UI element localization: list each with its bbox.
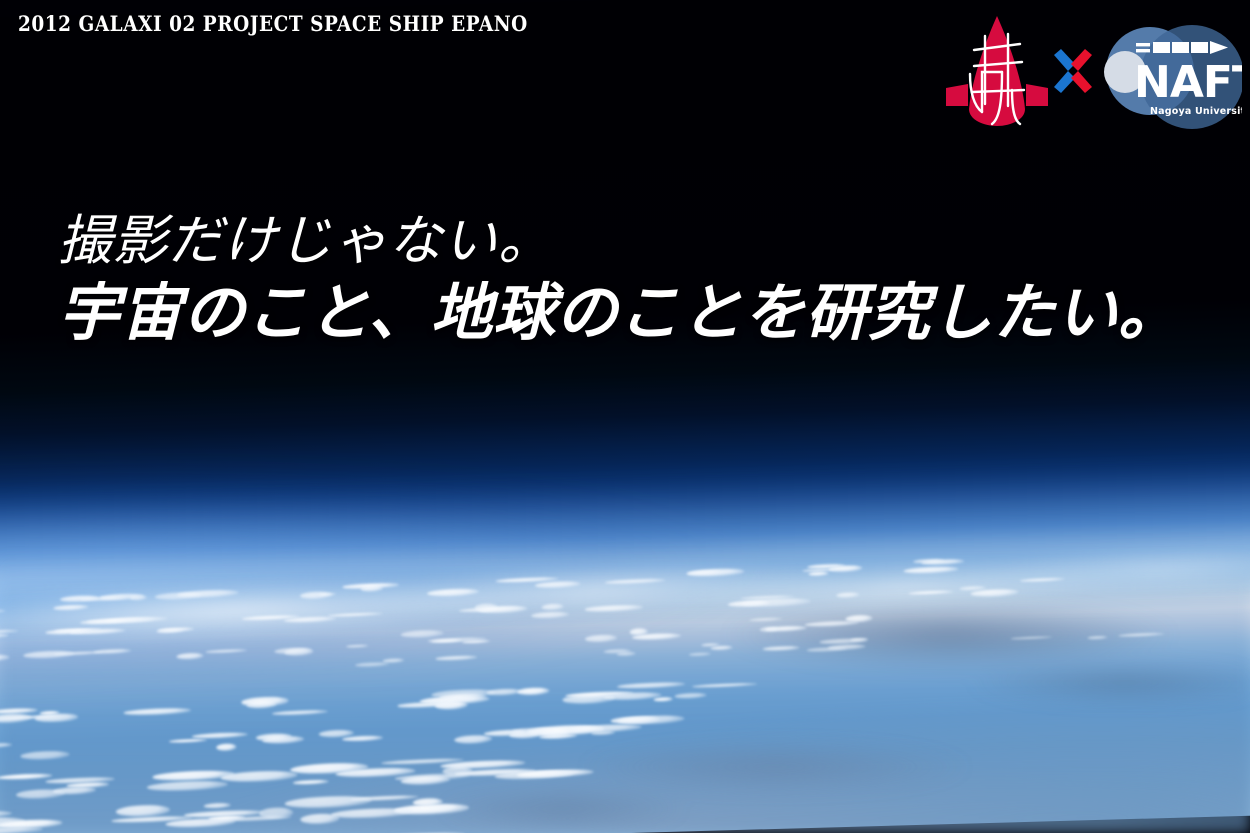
naft-wordmark: NAFT — [1134, 57, 1242, 108]
logo-lockup: NAFT Nagoya University — [942, 14, 1242, 134]
naft-logo: NAFT Nagoya University — [1092, 15, 1242, 133]
headline-line-2: 宇宙のこと、地球のことを研究したい。 — [58, 280, 1181, 347]
naft-subtitle: Nagoya University — [1150, 106, 1242, 117]
cross-multiply-icon — [1050, 48, 1096, 94]
poster: 2012 GALAXI 02 PROJECT SPACE SHIP EPANO — [0, 0, 1250, 833]
page-title: 2012 GALAXI 02 PROJECT SPACE SHIP EPANO — [18, 13, 528, 34]
headline-line-1: 撮影だけじゃない。 — [58, 212, 1181, 270]
galaxi-rocket-logo-icon — [944, 14, 1050, 134]
headline: 撮影だけじゃない。 宇宙のこと、地球のことを研究したい。 — [58, 212, 1181, 347]
